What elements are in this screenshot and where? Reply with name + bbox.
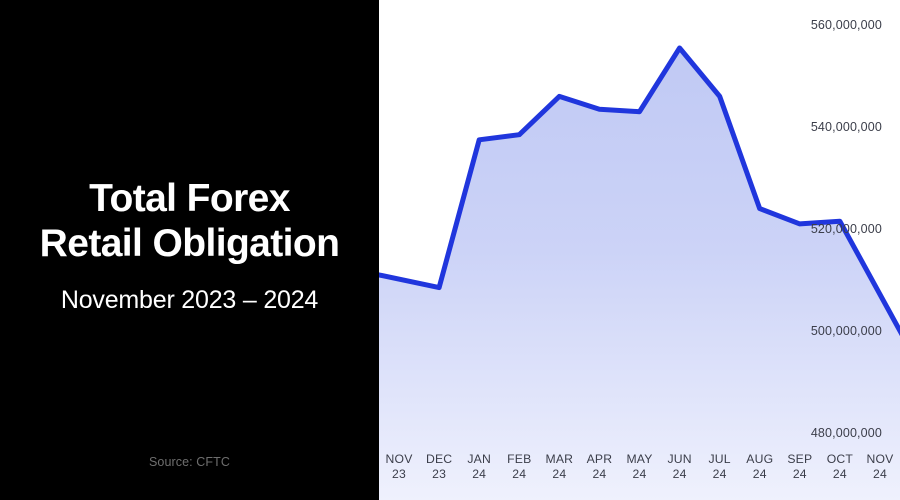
- x-tick-month: FEB: [499, 452, 539, 467]
- x-tick-year: 24: [660, 467, 700, 482]
- chart-panel: 560,000,000540,000,000520,000,000500,000…: [379, 0, 900, 500]
- x-tick-year: 24: [579, 467, 619, 482]
- x-tick-month: OCT: [820, 452, 860, 467]
- x-axis-tick-label: SEP24: [780, 452, 820, 482]
- x-axis-tick-label: DEC23: [419, 452, 459, 482]
- x-axis-tick-label: OCT24: [820, 452, 860, 482]
- x-tick-month: MAR: [539, 452, 579, 467]
- infographic-stage: Total Forex Retail Obligation November 2…: [0, 0, 900, 500]
- title-line-2: Retail Obligation: [0, 221, 379, 266]
- x-tick-year: 24: [860, 467, 900, 482]
- x-tick-month: JAN: [459, 452, 499, 467]
- x-tick-year: 24: [740, 467, 780, 482]
- x-tick-year: 24: [780, 467, 820, 482]
- x-tick-month: SEP: [780, 452, 820, 467]
- x-axis-tick-label: MAY24: [619, 452, 659, 482]
- x-tick-year: 24: [459, 467, 499, 482]
- x-tick-month: JUL: [700, 452, 740, 467]
- x-tick-year: 24: [539, 467, 579, 482]
- x-tick-year: 24: [499, 467, 539, 482]
- x-axis-tick-label: JUN24: [660, 452, 700, 482]
- x-tick-year: 24: [700, 467, 740, 482]
- title-panel: Total Forex Retail Obligation November 2…: [0, 0, 379, 500]
- x-tick-month: MAY: [619, 452, 659, 467]
- x-axis-tick-label: JAN24: [459, 452, 499, 482]
- x-axis-tick-label: NOV23: [379, 452, 419, 482]
- x-axis-tick-label: MAR24: [539, 452, 579, 482]
- x-tick-year: 23: [379, 467, 419, 482]
- x-tick-month: APR: [579, 452, 619, 467]
- x-axis-tick-label: AUG24: [740, 452, 780, 482]
- x-axis-labels: NOV23DEC23JAN24FEB24MAR24APR24MAY24JUN24…: [379, 444, 900, 500]
- x-tick-year: 23: [419, 467, 459, 482]
- x-tick-month: JUN: [660, 452, 700, 467]
- x-tick-year: 24: [820, 467, 860, 482]
- x-tick-month: NOV: [379, 452, 419, 467]
- x-tick-month: NOV: [860, 452, 900, 467]
- title-line-1: Total Forex: [0, 176, 379, 221]
- subtitle: November 2023 – 2024: [0, 283, 379, 317]
- x-tick-month: AUG: [740, 452, 780, 467]
- x-axis-tick-label: NOV24: [860, 452, 900, 482]
- x-axis-tick-label: JUL24: [700, 452, 740, 482]
- x-axis-tick-label: FEB24: [499, 452, 539, 482]
- source-credit: Source: CFTC: [0, 455, 379, 469]
- x-tick-month: DEC: [419, 452, 459, 467]
- x-tick-year: 24: [619, 467, 659, 482]
- page-title: Total Forex Retail Obligation: [0, 176, 379, 266]
- x-axis-tick-label: APR24: [579, 452, 619, 482]
- area-chart: [379, 0, 900, 500]
